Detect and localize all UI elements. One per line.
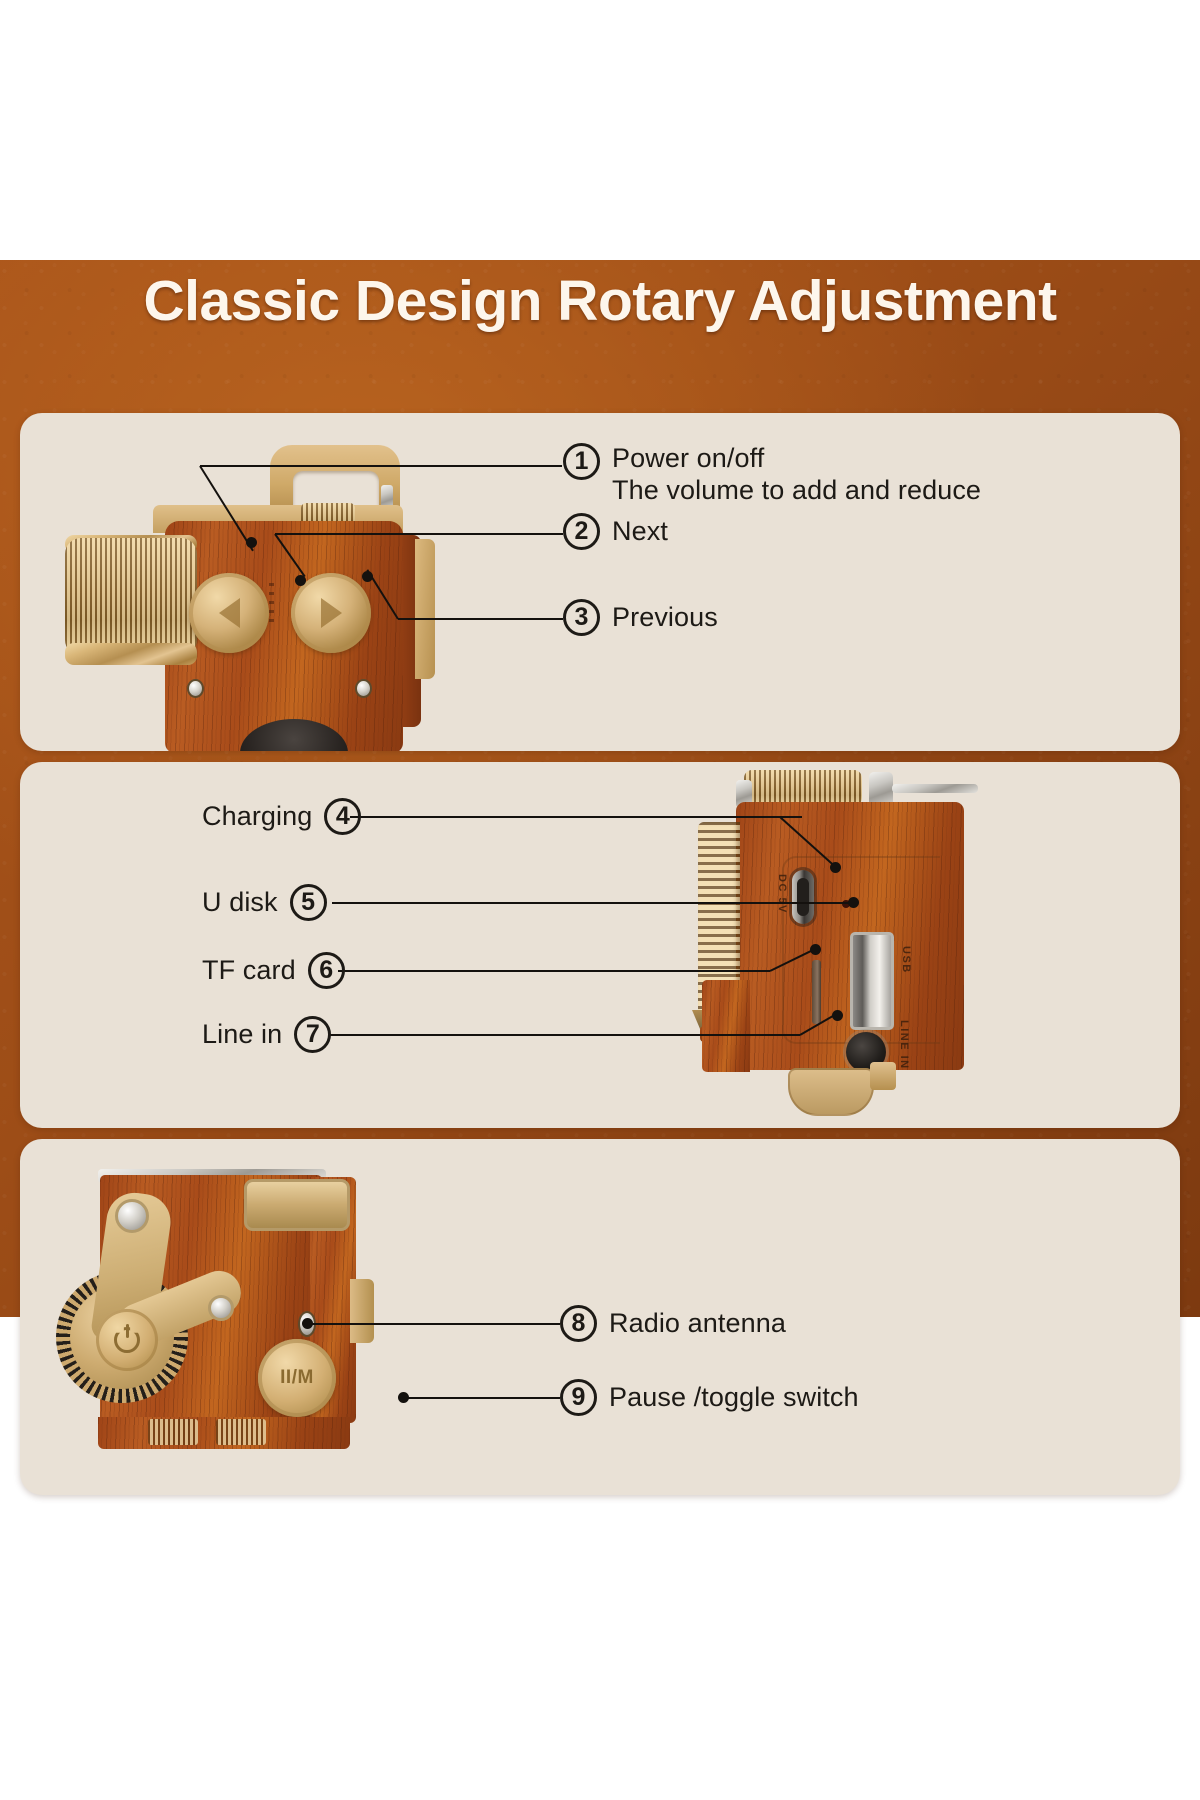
leader-line-2 <box>275 533 563 535</box>
callout-number-8: 8 <box>560 1305 597 1342</box>
callout-4: 4 Charging <box>202 798 361 835</box>
toggle-switch-label: II/M <box>280 1367 314 1389</box>
product-image-ports: DC 5V USB LINE IN <box>664 770 1064 1128</box>
rear-handle-block <box>244 1179 350 1231</box>
foot-pad <box>788 1068 874 1116</box>
callout-label-1: Power on/off The volume to add and reduc… <box>612 443 981 506</box>
tf-card-slot <box>812 960 821 1024</box>
leader-dot-6 <box>810 944 821 955</box>
callout-2: 2 Next <box>563 513 668 550</box>
callout-1: 1 Power on/off The volume to add and red… <box>563 443 981 506</box>
leader-dot-2 <box>295 575 306 586</box>
panel-rear-view: II/M 8 Radio antenna 9 Pause /toggle swi… <box>20 1139 1180 1495</box>
callout-9: 9 Pause /toggle switch <box>560 1379 859 1416</box>
callout-number-4: 4 <box>324 798 361 835</box>
callout-number-1: 1 <box>563 443 600 480</box>
product-image-front <box>65 443 535 751</box>
callout-3: 3 Previous <box>563 599 718 636</box>
triangle-left-icon <box>219 598 240 628</box>
callout-number-5: 5 <box>290 884 327 921</box>
panel-front-view: 1 Power on/off The volume to add and red… <box>20 413 1180 751</box>
dc-5v-port-label: DC 5V <box>776 874 788 914</box>
volume-knob-bottom-ring <box>65 643 197 665</box>
triangle-right-icon <box>321 598 342 628</box>
leader-dot-7 <box>832 1010 843 1021</box>
callout-label-4: Charging <box>202 798 312 833</box>
callout-8: 8 Radio antenna <box>560 1305 786 1342</box>
right-side-tab <box>350 1279 374 1343</box>
leader-dot-4 <box>830 862 841 873</box>
usb-c-port-inner <box>797 878 809 916</box>
callout-number-9: 9 <box>560 1379 597 1416</box>
body-screw <box>355 679 372 698</box>
callout-label-5: U disk <box>202 884 278 919</box>
bottom-ridge <box>148 1419 198 1445</box>
panel-port-view: DC 5V USB LINE IN 4 Charging 5 <box>20 762 1180 1128</box>
power-icon <box>114 1327 140 1353</box>
product-image-rear: II/M <box>58 1161 488 1461</box>
callout-number-7: 7 <box>294 1016 331 1053</box>
leader-line-4 <box>350 816 802 818</box>
body-screw <box>187 679 204 698</box>
leader-line-7 <box>328 1034 800 1036</box>
callout-label-9: Pause /toggle switch <box>609 1379 859 1414</box>
infographic-page: Classic Design Rotary Adjustment <box>0 0 1200 1800</box>
callout-label-2: Next <box>612 513 668 548</box>
previous-button[interactable] <box>189 573 269 653</box>
leader-dot-1 <box>246 537 257 548</box>
callout-label-3: Previous <box>612 599 718 634</box>
leader-line-8 <box>308 1323 560 1325</box>
callout-number-2: 2 <box>563 513 600 550</box>
callout-number-3: 3 <box>563 599 600 636</box>
leader-dot-8 <box>302 1318 313 1329</box>
page-title: Classic Design Rotary Adjustment <box>0 272 1200 332</box>
leader-line-5 <box>332 902 854 904</box>
foot-tab <box>870 1062 896 1090</box>
callout-label-6: TF card <box>202 952 296 987</box>
callout-5: 5 U disk <box>202 884 327 921</box>
leader-line-1 <box>200 465 562 467</box>
leader-dot-5 <box>848 897 859 908</box>
side-tab <box>415 539 435 679</box>
callout-label-7: Line in <box>202 1016 282 1051</box>
callout-6: 6 TF card <box>202 952 345 989</box>
usb-a-port <box>850 932 894 1030</box>
mic-grille <box>269 583 274 625</box>
pause-toggle-switch[interactable]: II/M <box>258 1339 336 1417</box>
power-button[interactable] <box>96 1309 158 1371</box>
leader-line-3 <box>398 618 563 620</box>
callout-label-8: Radio antenna <box>609 1305 786 1340</box>
callout-number-6: 6 <box>308 952 345 989</box>
crank-pivot-lower <box>208 1295 234 1321</box>
leader-line-6 <box>338 970 770 972</box>
volume-knob <box>65 538 197 656</box>
top-tuning-knob <box>744 770 862 806</box>
line-in-port-label: LINE IN <box>898 1020 910 1070</box>
leader-dot-3 <box>362 571 373 582</box>
usb-port-label: USB <box>900 946 912 974</box>
leader-dot-9 <box>398 1392 409 1403</box>
bottom-ridge <box>216 1419 266 1445</box>
crank-pivot-top <box>115 1199 149 1233</box>
body-lower-left <box>702 980 750 1072</box>
antenna-rod <box>892 784 978 793</box>
callout-7: 7 Line in <box>202 1016 331 1053</box>
leader-line-9 <box>404 1397 560 1399</box>
